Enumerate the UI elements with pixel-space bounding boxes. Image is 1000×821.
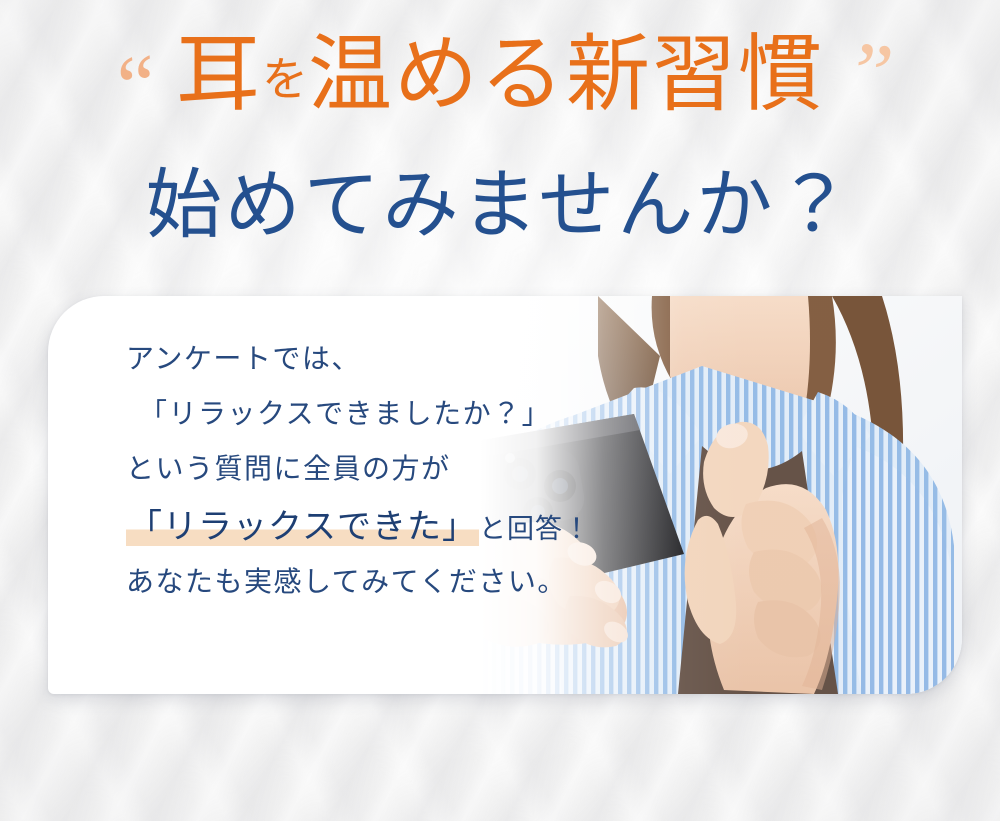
copy-line-3: という質問に全員の方が [126,456,626,484]
copy-line-answer: 「リラックスできた」と回答！ [126,511,626,545]
landing-page-section: “ ” 耳を温める新習慣 始めてみませんか？ [0,0,1000,821]
headline-line-2: 始めてみませんか？ [0,168,1000,264]
headline-line-1-suffix: 温める新習慣 [308,29,824,122]
copy-line-5: あなたも実感してみてください。 [126,569,626,597]
headline-line-1-prefix: 耳 [176,29,262,122]
headline-block: “ ” 耳を温める新習慣 始めてみませんか？ [0,34,1000,264]
testimonial-card: アンケートでは、 「リラックスできましたか？」 という質問に全員の方が 「リラッ… [48,296,962,694]
headline-line-1-particle: を [262,54,308,105]
copy-after-highlight: と回答！ [479,514,591,544]
headline-line-1: 耳を温める新習慣 [0,34,1000,146]
testimonial-copy: アンケートでは、 「リラックスできましたか？」 という質問に全員の方が 「リラッ… [126,346,626,597]
highlighted-quote: 「リラックスできた」 [126,509,479,546]
copy-line-2: 「リラックスできましたか？」 [139,401,626,429]
copy-line-1: アンケートでは、 [126,346,626,374]
